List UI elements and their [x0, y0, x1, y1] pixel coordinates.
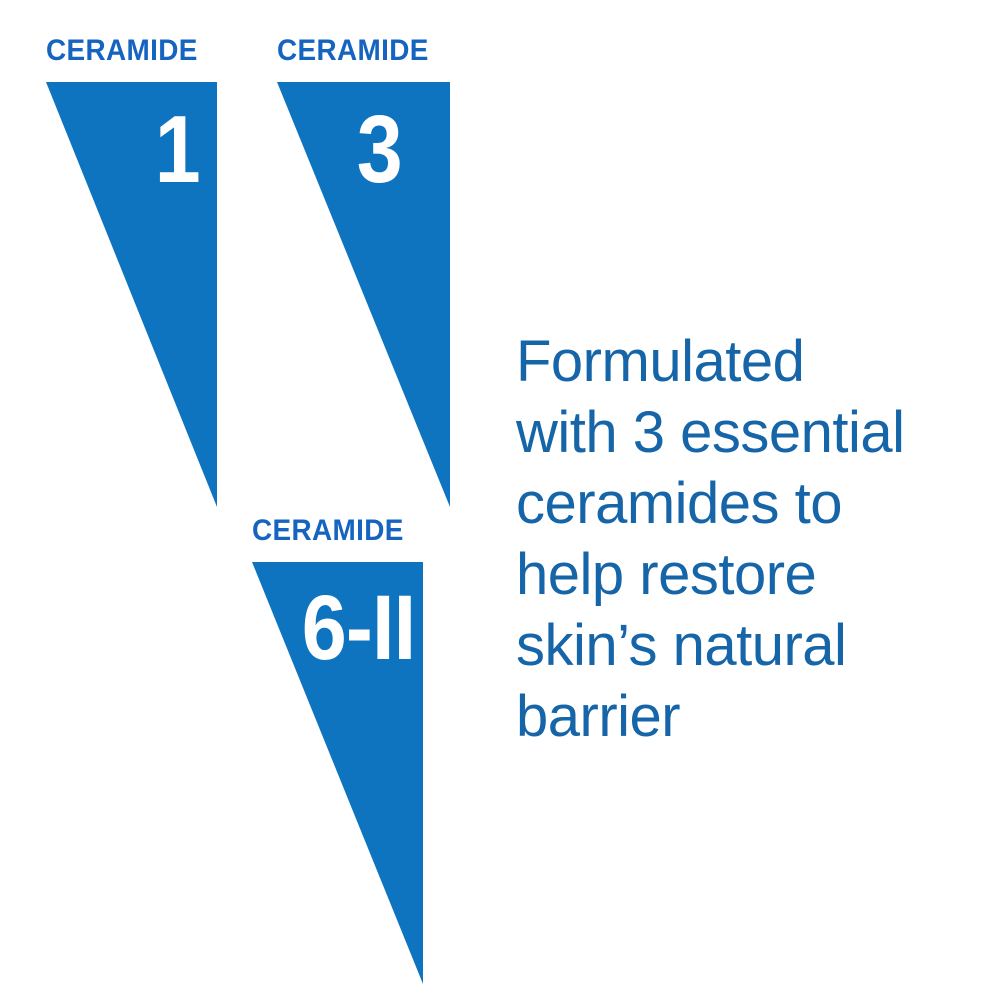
- ceramide-number: 6-II: [302, 582, 415, 674]
- ceramide-number: 1: [155, 102, 201, 198]
- claim-text-block: Formulated with 3 essential ceramides to…: [516, 326, 956, 752]
- claim-line: barrier: [516, 681, 956, 752]
- ceramide-label: CERAMIDE: [277, 36, 429, 66]
- claim-line: Formulated: [516, 326, 956, 397]
- ceramide-number: 3: [357, 102, 403, 198]
- claim-line: skin’s natural: [516, 610, 956, 681]
- claim-line: help restore: [516, 539, 956, 610]
- infographic-canvas: CERAMIDE 1 CERAMIDE 3 CERAMIDE 6-II Form…: [0, 0, 1000, 1000]
- ceramide-label: CERAMIDE: [46, 36, 198, 66]
- claim-line: ceramides to: [516, 468, 956, 539]
- ceramide-label: CERAMIDE: [252, 516, 404, 546]
- claim-line: with 3 essential: [516, 397, 956, 468]
